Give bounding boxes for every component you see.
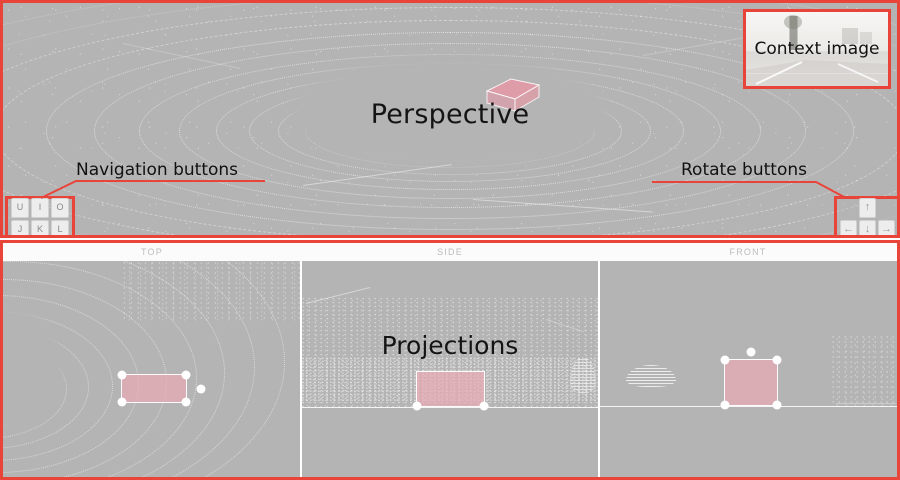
nav-key-k[interactable]: K [31, 220, 49, 239]
nav-key-o[interactable]: O [51, 198, 69, 218]
handle-top-right[interactable] [182, 371, 191, 380]
navigation-buttons-callout-label: Navigation buttons [76, 160, 238, 180]
context-image-label: Context image [746, 39, 888, 59]
ground-plane-line [302, 407, 599, 408]
projection-panel-side[interactable] [302, 261, 601, 477]
handle-bottom-right[interactable] [479, 402, 488, 411]
handle-bottom-left[interactable] [721, 401, 730, 410]
point-cloud-top [3, 261, 300, 477]
nav-key-l[interactable]: L [51, 220, 69, 239]
lidar-haze [123, 261, 300, 321]
handle-bottom-right[interactable] [182, 398, 191, 407]
context-image-panel[interactable]: Context image [743, 9, 891, 89]
navigation-buttons[interactable]: U I O J K L [5, 196, 75, 238]
rotate-buttons-row-1: ↑ [840, 198, 895, 218]
bounding-box-top-view[interactable] [121, 374, 187, 403]
handle-heading-indicator[interactable] [196, 384, 205, 393]
lidar-annotation-tool: Perspective Context image U I O [0, 0, 900, 480]
bounding-box-side-view[interactable] [416, 371, 485, 407]
rotate-buttons-row-2: ← ↓ → [840, 220, 895, 239]
arrow-up-icon[interactable]: ↑ [859, 198, 876, 218]
navigation-buttons-row-1: U I O [11, 198, 69, 218]
navigation-buttons-row-2: J K L [11, 220, 69, 239]
nav-key-u[interactable]: U [11, 198, 29, 218]
projections-viewport[interactable]: TOP SIDE FRONT [0, 240, 900, 480]
rotate-key-spacer-right [878, 198, 895, 218]
rotate-key-spacer-left [840, 198, 857, 218]
perspective-viewport[interactable]: Perspective Context image U I O [0, 0, 900, 238]
projection-title-side: SIDE [301, 243, 599, 261]
arrow-down-icon[interactable]: ↓ [859, 220, 876, 239]
handle-top-left[interactable] [118, 371, 127, 380]
projection-panel-top[interactable] [3, 261, 302, 477]
handle-bottom-left[interactable] [412, 402, 421, 411]
arrow-left-icon[interactable]: ← [840, 220, 857, 239]
projection-title-front: FRONT [599, 243, 897, 261]
point-cloud-side [302, 261, 599, 477]
projection-panels [3, 261, 897, 477]
rotate-buttons-callout-label: Rotate buttons [681, 160, 807, 180]
projections-view-label: Projections [3, 331, 897, 360]
arrow-right-icon[interactable]: → [878, 220, 895, 239]
handle-bottom-left[interactable] [118, 398, 127, 407]
rotate-buttons[interactable]: ↑ ← ↓ → [834, 196, 900, 238]
nav-key-j[interactable]: J [11, 220, 29, 239]
projection-panel-front[interactable] [600, 261, 897, 477]
lidar-streak [836, 403, 896, 404]
perspective-view-label: Perspective [3, 99, 897, 130]
projection-titles: TOP SIDE FRONT [3, 243, 897, 261]
bounding-box-front-view[interactable] [724, 359, 778, 406]
handle-bottom-right[interactable] [773, 401, 782, 410]
nav-key-i[interactable]: I [31, 198, 49, 218]
projection-title-top: TOP [3, 243, 301, 261]
front-object-cluster [626, 365, 676, 387]
